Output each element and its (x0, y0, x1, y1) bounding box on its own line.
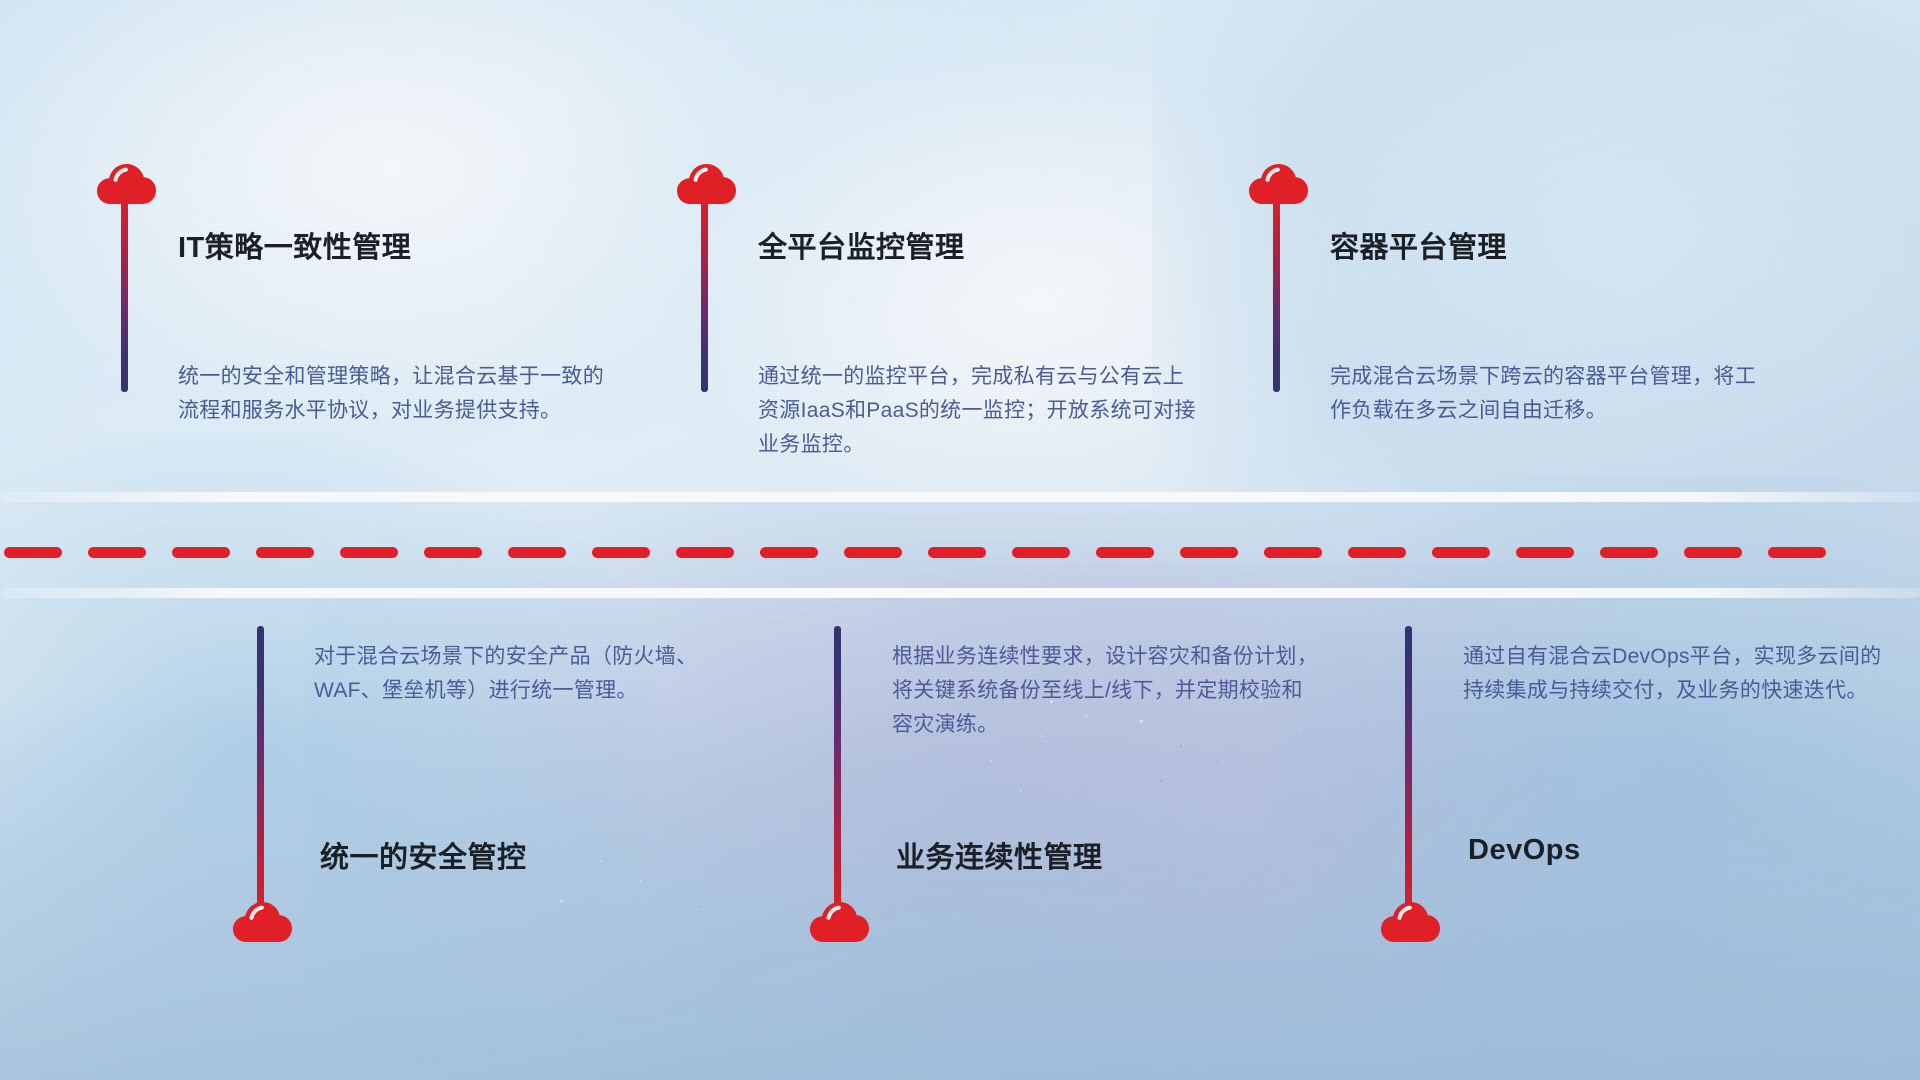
divider-dash (928, 547, 986, 558)
divider-dash (172, 547, 230, 558)
divider-dash (676, 547, 734, 558)
decorative-speck (1020, 790, 1022, 792)
divider-dash (1264, 547, 1322, 558)
panel-body: 通过统一的监控平台，完成私有云与公有云上资源IaaS和PaaS的统一监控；开放系… (758, 360, 1204, 462)
divider-dash (592, 547, 650, 558)
divider-dash (256, 547, 314, 558)
divider-dash (844, 547, 902, 558)
divider-bar-top (0, 492, 1920, 502)
divider-dash (1768, 547, 1826, 558)
panel-body: 完成混合云场景下跨云的容器平台管理，将工作负载在多云之间自由迁移。 (1330, 360, 1760, 428)
cloud-icon (1380, 898, 1442, 944)
divider-dash (1096, 547, 1154, 558)
panel-body: 对于混合云场景下的安全产品（防火墙、WAF、堡垒机等）进行统一管理。 (314, 640, 744, 708)
panel-title: DevOps (1468, 834, 1581, 867)
divider-dash (88, 547, 146, 558)
connector-stem (257, 626, 264, 924)
decorative-speck (1215, 760, 1217, 762)
panel-body: 统一的安全和管理策略，让混合云基于一致的流程和服务水平协议，对业务提供支持。 (178, 360, 608, 428)
connector-stem (1273, 196, 1280, 392)
divider-dash (1684, 547, 1742, 558)
decorative-speck (1180, 745, 1182, 747)
panel-body: 通过自有混合云DevOps平台，实现多云间的持续集成与持续交付，及业务的快速迭代… (1463, 640, 1893, 708)
divider-dash (424, 547, 482, 558)
divider-bar-bottom (0, 588, 1920, 598)
connector-stem (701, 196, 708, 392)
divider-dash (1516, 547, 1574, 558)
decorative-speck (700, 905, 702, 907)
divider-dashed-line (0, 546, 1920, 558)
decorative-speck (560, 900, 563, 903)
panel-title: 业务连续性管理 (896, 834, 1103, 876)
decorative-speck (990, 760, 992, 762)
divider-dash (1180, 547, 1238, 558)
decorative-speck (640, 880, 642, 882)
infographic-canvas: IT策略一致性管理 统一的安全和管理策略，让混合云基于一致的流程和服务水平协议，… (0, 0, 1920, 1080)
divider-dash (508, 547, 566, 558)
decorative-speck (600, 860, 602, 862)
decorative-speck (1160, 780, 1162, 782)
panel-title: 容器平台管理 (1330, 224, 1507, 266)
divider-dash (760, 547, 818, 558)
cloud-icon (232, 898, 294, 944)
connector-stem (834, 626, 841, 924)
connector-stem (1405, 626, 1412, 924)
panel-title: IT策略一致性管理 (178, 224, 411, 266)
connector-stem (121, 196, 128, 392)
panel-body: 根据业务连续性要求，设计容灾和备份计划，将关键系统备份至线上/线下，并定期校验和… (892, 640, 1322, 742)
divider-dash (1432, 547, 1490, 558)
divider-dash (4, 547, 62, 558)
divider-dash (1348, 547, 1406, 558)
panel-title: 全平台监控管理 (758, 224, 965, 266)
divider-dash (1012, 547, 1070, 558)
divider-dash (1600, 547, 1658, 558)
panel-title: 统一的安全管控 (320, 834, 527, 876)
cloud-icon (809, 898, 871, 944)
divider-dash (340, 547, 398, 558)
